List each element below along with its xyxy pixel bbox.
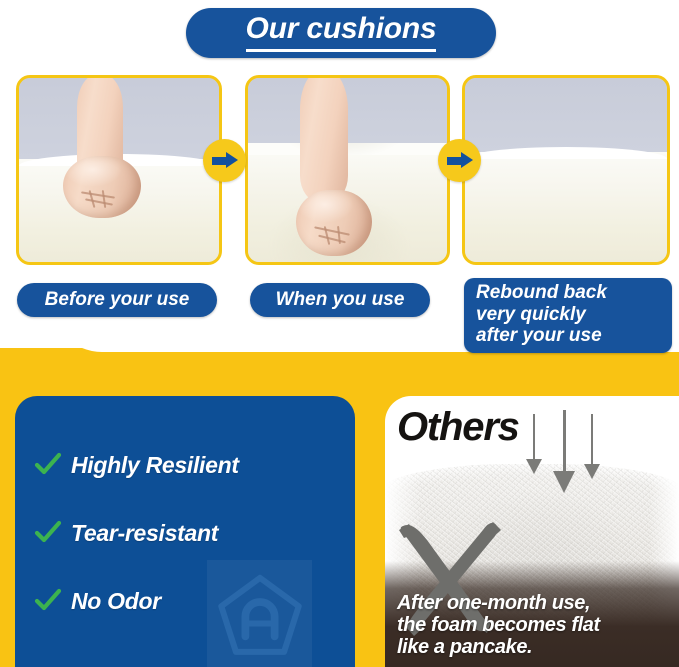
feature-label: Tear-resistant	[71, 520, 218, 547]
down-arrow-icon	[555, 410, 573, 493]
sequence-arrow-1	[203, 139, 246, 182]
caption-during: When you use	[250, 283, 430, 317]
header-banner: Our cushions	[186, 8, 496, 58]
sequence-arrow-2	[438, 139, 481, 182]
demo-photo-before	[16, 75, 222, 265]
demo-photo-rebounded	[462, 75, 670, 265]
feature-label: No Odor	[71, 588, 161, 615]
others-caption: After one-month use, the foam becomes fl…	[397, 592, 669, 658]
caption-line: like a pancake.	[397, 636, 669, 658]
right-arrow-icon	[447, 152, 473, 169]
down-arrow-icon	[584, 414, 600, 479]
arrow-head	[526, 459, 542, 474]
down-arrow-icon	[526, 414, 542, 474]
fist	[296, 190, 372, 256]
feature-label: Highly Resilient	[71, 452, 239, 479]
others-title: Others	[397, 405, 519, 450]
feature-item-highly-resilient: Highly Resilient	[33, 438, 333, 492]
right-arrow-icon	[212, 152, 238, 169]
caption-line: after your use	[476, 325, 672, 347]
arrow-shaft	[563, 410, 566, 472]
caption-text: When you use	[276, 289, 405, 311]
pentagon-house-logo-icon	[207, 560, 312, 667]
foam-slab	[465, 152, 667, 262]
green-check-icon	[33, 586, 63, 616]
others-comparison-panel: Others After one-month use	[385, 396, 679, 667]
page-title: Our cushions	[246, 14, 437, 52]
green-check-icon	[33, 518, 63, 548]
forearm	[300, 75, 348, 202]
arrow-head	[584, 464, 600, 479]
arrow-shaft	[591, 414, 593, 465]
photo-background	[465, 78, 667, 155]
caption-line: very quickly	[476, 304, 672, 326]
demo-photo-during	[245, 75, 450, 265]
feature-item-tear-resistant: Tear-resistant	[33, 506, 333, 560]
fist	[63, 156, 141, 218]
caption-text: Before your use	[45, 289, 190, 311]
green-check-icon	[33, 450, 63, 480]
caption-rebound: Rebound back very quickly after your use	[464, 278, 672, 353]
top-section: Our cushions	[0, 0, 679, 348]
caption-before: Before your use	[17, 283, 217, 317]
caption-line: Rebound back	[476, 282, 672, 304]
arrow-shaft	[533, 414, 535, 460]
caption-line: the foam becomes flat	[397, 614, 669, 636]
caption-line: After one-month use,	[397, 592, 669, 614]
arrow-head	[553, 471, 575, 493]
